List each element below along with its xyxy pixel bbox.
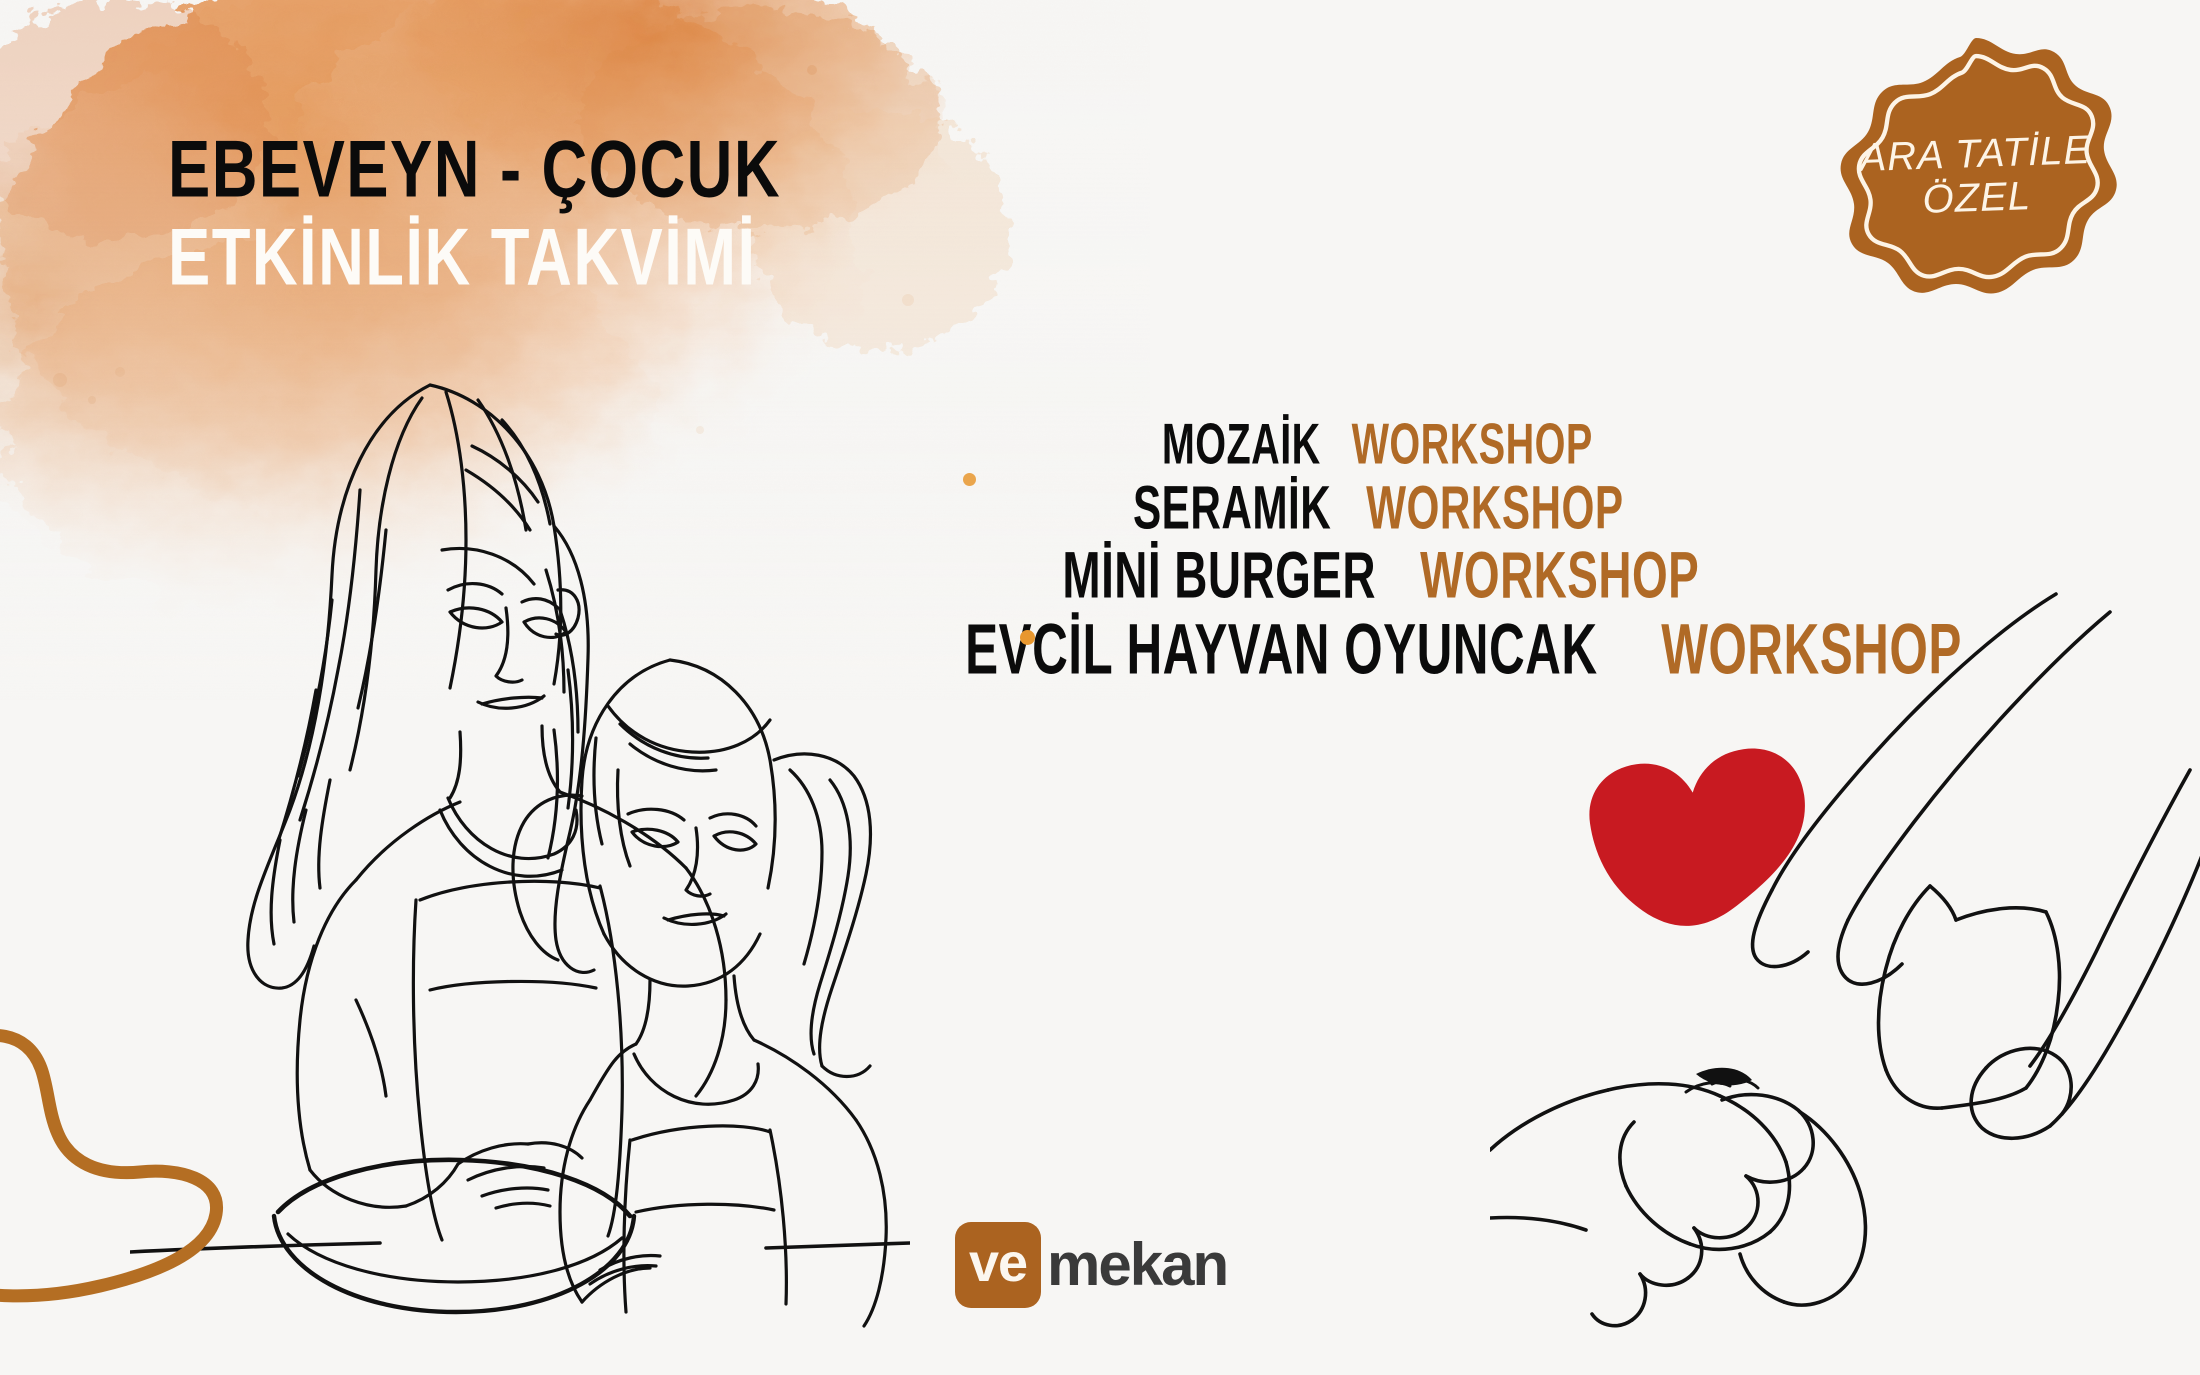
- orange-squiggle-line: [0, 1000, 300, 1330]
- logo-mark-text: ve: [969, 1236, 1027, 1290]
- workshop-name: MOZAİK: [1162, 417, 1321, 475]
- workshop-tag: WORKSHOP: [1357, 476, 1624, 538]
- logo-wordmark: mekan: [1047, 1235, 1227, 1295]
- logo-mark: ve: [955, 1222, 1041, 1308]
- bullet-dot-icon: [1020, 630, 1035, 645]
- brand-logo: ve mekan: [955, 1222, 1227, 1308]
- badge-label-line-2: ÖZEL: [1922, 175, 2032, 221]
- list-item: SERAMİKWORKSHOP: [930, 491, 1830, 539]
- heart-icon: [1583, 742, 1820, 938]
- workshop-name: SERAMİK: [1133, 476, 1331, 538]
- status-badge: ARA TATİLE ÖZEL: [1832, 32, 2120, 320]
- badge-label-line-1: ARA TATİLE: [1859, 129, 2092, 179]
- list-item: MOZAİKWORKSHOP: [930, 430, 1830, 475]
- workshop-name: MİNİ BURGER: [1063, 541, 1377, 609]
- page-title-line-2: ETKİNLİK TAKVİMİ: [168, 194, 898, 296]
- adult-and-child-hands-line-art: [1490, 590, 2200, 1375]
- bullet-dot-icon: [963, 473, 976, 486]
- page-title: EBEVEYN - ÇOCUK ETKİNLİK TAKVİMİ: [168, 128, 928, 278]
- workshop-tag: WORKSHOP: [1343, 417, 1593, 475]
- poster-canvas: EBEVEYN - ÇOCUK ETKİNLİK TAKVİMİ ARA TAT…: [0, 0, 2200, 1375]
